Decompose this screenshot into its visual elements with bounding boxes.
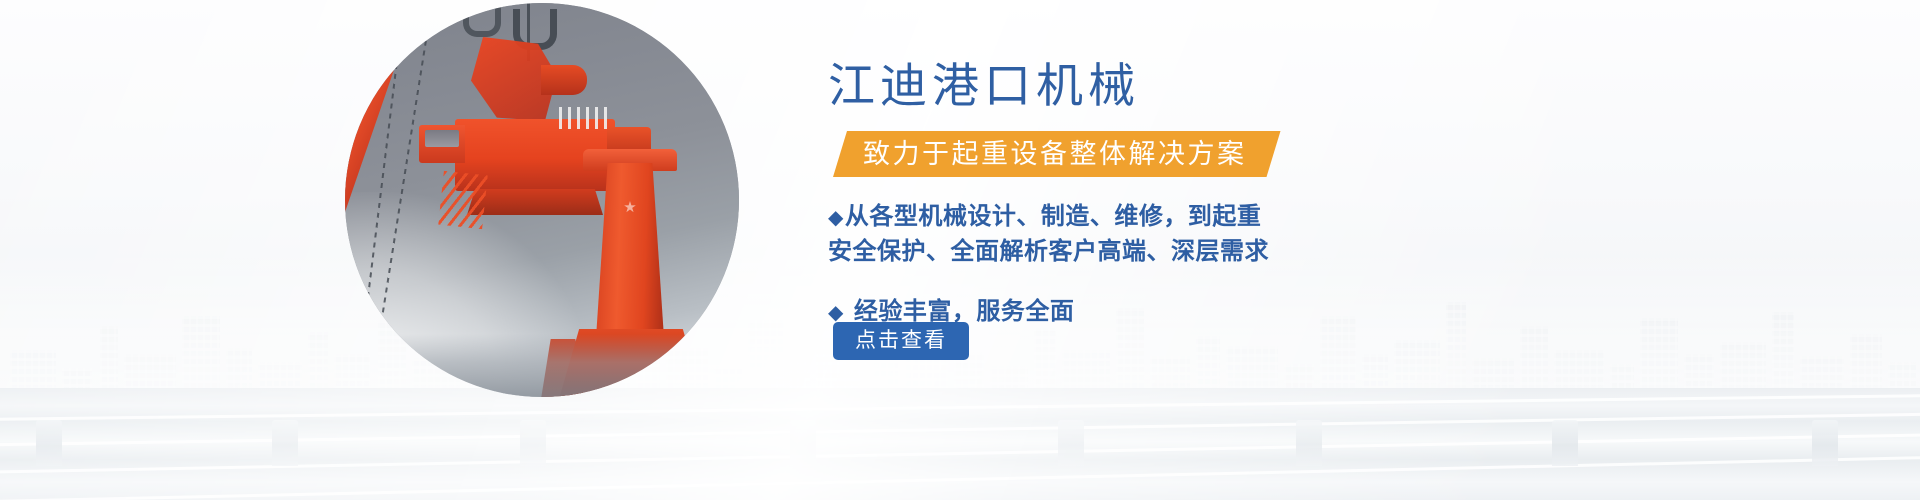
crane-hook-secondary-icon — [463, 5, 501, 37]
crane-stairs — [438, 171, 487, 229]
selling-point-1: ◆从各型机械设计、制造、维修，到起重 安全保护、全面解析客户高端、深层需求 — [828, 200, 1448, 269]
selling-point-1-line-2: 安全保护、全面解析客户高端、深层需求 — [828, 235, 1448, 269]
diamond-bullet-icon-2: ◆ — [828, 302, 844, 324]
selling-point-1-line-1: 从各型机械设计、制造、维修，到起重 — [845, 203, 1262, 230]
crane-cab-window — [425, 130, 459, 147]
crane-photo: ★ — [345, 3, 739, 397]
banner-headline: 江迪港口机械 — [828, 62, 1140, 109]
selling-points: ◆从各型机械设计、制造、维修，到起重 安全保护、全面解析客户高端、深层需求 ◆经… — [828, 200, 1448, 330]
tagline-ribbon: 致力于起重设备整体解决方案 — [833, 131, 1281, 177]
diamond-bullet-icon: ◆ — [828, 207, 844, 229]
crane-nose — [541, 65, 587, 95]
second-crane-marking: ★ — [621, 199, 639, 217]
tagline-text: 致力于起重设备整体解决方案 — [863, 131, 1247, 177]
crane-house-skirt — [467, 189, 603, 215]
click-to-view-button[interactable]: 点击查看 — [833, 322, 969, 360]
hero-banner: ★ 江迪港口机械 致力于起重设备整体解决方案 ◆从各型机械设计、制造、维修，到起… — [0, 0, 1920, 500]
photo-water — [345, 334, 739, 397]
selling-point-2-line-1: 经验丰富，服务全面 — [854, 298, 1075, 325]
crane-handrail — [559, 107, 613, 129]
banner-content: 江迪港口机械 致力于起重设备整体解决方案 ◆从各型机械设计、制造、维修，到起重 … — [828, 0, 1838, 500]
